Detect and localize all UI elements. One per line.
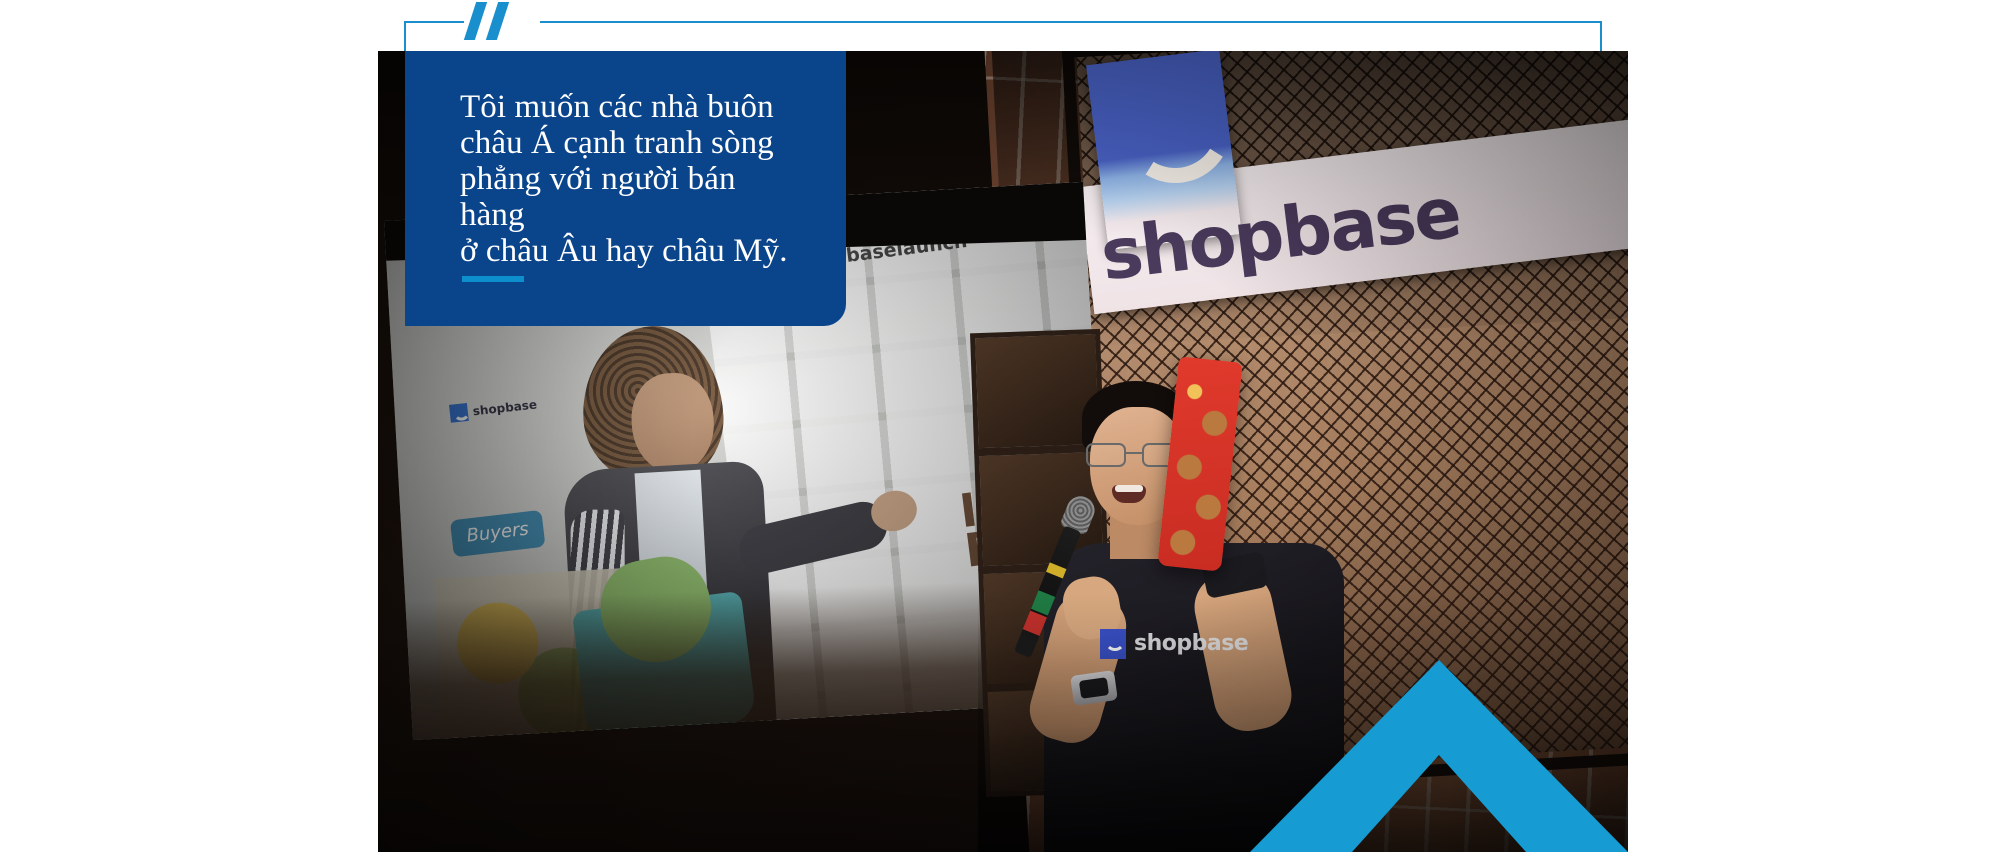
smile-arc-icon bbox=[1112, 77, 1242, 194]
bottom-vignette bbox=[978, 592, 1628, 852]
frame-line-left bbox=[404, 22, 406, 52]
speaker-mouth bbox=[1112, 485, 1146, 503]
frame-line-top-right bbox=[540, 21, 1602, 23]
frame-line-right bbox=[1600, 21, 1602, 53]
glasses-lens-left bbox=[1086, 443, 1126, 467]
quote-feature-block: shopbase #shopbaselaunch shopbase bbox=[0, 0, 2000, 864]
frame-line-top-left bbox=[404, 21, 464, 23]
quote-slash-first bbox=[464, 2, 487, 40]
quote-card: Tôi muốn các nhà buôn châu Á cạnh tranh … bbox=[405, 51, 846, 326]
quote-slash-second bbox=[486, 2, 509, 40]
quote-text: Tôi muốn các nhà buôn châu Á cạnh tranh … bbox=[460, 89, 806, 269]
double-slash-quote-icon bbox=[462, 2, 524, 42]
glasses-bridge bbox=[1126, 452, 1142, 454]
quote-accent-rule bbox=[462, 276, 524, 282]
